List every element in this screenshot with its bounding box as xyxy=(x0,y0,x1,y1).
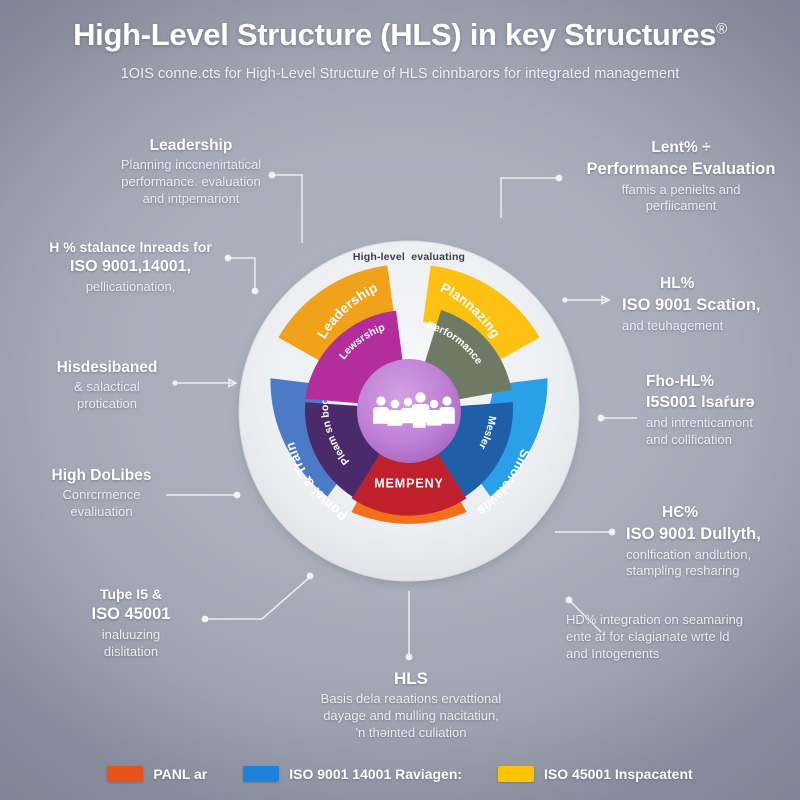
legend-item-iso45001[interactable]: ISO 45001 Inspacatent xyxy=(498,766,693,782)
callout-leadership-body: Planning inccnenirtatical performance. e… xyxy=(96,157,286,208)
callout-hls-bottom-head: HLS xyxy=(272,668,550,690)
callout-iso9001-dullyth: HЄ% ISO 9001 Dullyth, conlfication andlu… xyxy=(626,503,798,580)
callout-iso9001-dullyth-head2: ISO 9001 Dullyth, xyxy=(626,524,798,545)
wheel-inner-label-mempeny: MEMPENY xyxy=(374,476,444,490)
callout-tube-iso45001: Tuþe I5 & ISO 45001 inaluuzing dislitati… xyxy=(62,585,200,660)
callout-hisdesibaned: Hisdesibaned & salactical protication xyxy=(42,358,172,413)
connector-dot-iso5001 xyxy=(598,415,605,422)
callout-iso-standards-body: pellicationation, xyxy=(38,279,223,296)
hls-wheel-svg: High-level evaluating Leadership Plannaz… xyxy=(230,232,588,590)
callout-hls-bottom: HLS Basis dela reaations ervattional day… xyxy=(272,668,550,742)
callout-leadership: Leadership Planning inccnenirtatical per… xyxy=(96,136,286,208)
legend-swatch-iso9001-14001 xyxy=(243,766,279,782)
callout-performance-evaluation-body: ffamis a penielts and perfiicament xyxy=(568,182,794,216)
connector-dot-integration xyxy=(566,597,573,604)
callout-performance-evaluation: Lent% ÷ Performance Evaluation ffamis a … xyxy=(568,138,794,215)
callout-iso-standards: H % stalance lnreads for ISO 9001,14001,… xyxy=(38,238,223,296)
callout-integration-body: HD% integration on ѕeamaring ente аf for… xyxy=(566,612,798,663)
connector-dot-iso9001-dullyth xyxy=(609,529,616,536)
callout-iso9001-scation-body: and teuhagement xyxy=(622,318,794,335)
connector-dot-tube-iso45001 xyxy=(202,616,209,623)
legend-item-iso9001-14001[interactable]: ISO 9001 14001 Raviagen: xyxy=(243,766,462,782)
legend-label-iso9001-14001: ISO 9001 14001 Raviagen: xyxy=(289,766,462,782)
callout-high-dolibes-body: Conrcrmence evaliuation xyxy=(34,487,169,521)
callout-iso-standards-head: H % stalance lnreads for xyxy=(38,238,223,256)
callout-tube-iso45001-body: inaluuzing dislitation xyxy=(62,627,200,661)
legend-swatch-panl xyxy=(107,766,143,782)
callout-performance-evaluation-head2: Performance Evaluation xyxy=(568,159,794,180)
callout-iso5001-lsafure-head: Fho-HL% xyxy=(646,372,798,392)
callout-iso9001-scation-head2: ISO 9001 Scation, xyxy=(622,295,794,316)
legend-label-iso45001: ISO 45001 Inspacatent xyxy=(544,766,693,782)
callout-hls-bottom-body: Basis dela reaations ervattional dayage … xyxy=(272,691,550,742)
connector-arrow-iso9001 xyxy=(602,296,609,303)
callout-iso5001-lsafure-head2: I5S001 lsaŕurə xyxy=(646,393,798,414)
page-title: High-Level Structure (HLS) in key Struct… xyxy=(0,18,800,53)
legend-item-panl[interactable]: PANL ar xyxy=(107,766,207,782)
callout-tube-iso45001-head: Tuþe I5 & xyxy=(62,585,200,603)
wheel-ring-top-label: High-level evaluating xyxy=(353,251,465,263)
callout-tube-iso45001-head2: ISO 45001 xyxy=(62,604,200,625)
callout-high-dolibes: High DoLibes Conrcrmence evaliuation xyxy=(34,466,169,521)
callout-leadership-head: Leadership xyxy=(96,136,286,156)
callout-iso9001-dullyth-body: conlfication andlution, stampling reshar… xyxy=(626,547,798,581)
callout-hisdesibaned-body: & salactical protication xyxy=(42,379,172,413)
connector-dot-hisdesibaned xyxy=(172,380,177,385)
callout-integration: HD% integration on ѕeamaring ente аf for… xyxy=(566,612,798,663)
poster-header: High-Level Structure (HLS) in key Struct… xyxy=(0,18,800,82)
connector-dot-hls-bottom xyxy=(406,654,413,661)
callout-iso9001-dullyth-head: HЄ% xyxy=(662,503,798,523)
callout-high-dolibes-head: High DoLibes xyxy=(34,466,169,486)
callout-iso5001-lsafure: Fho-HL% I5S001 lsaŕurə and intrenticamon… xyxy=(646,372,798,449)
callout-iso5001-lsafure-body: and intrenticamont and collfication xyxy=(646,415,798,449)
registered-mark: ® xyxy=(716,21,727,38)
page-subtitle: 1OIS conne.cts for High-Level Structure … xyxy=(0,66,800,82)
legend-label-panl: PANL ar xyxy=(153,766,207,782)
legend: PANL ar ISO 9001 14001 Raviagen: ISO 450… xyxy=(0,766,800,782)
callout-iso-standards-head2: ISO 9001,14001, xyxy=(38,257,223,278)
wheel-hub[interactable] xyxy=(357,359,461,463)
legend-swatch-iso45001 xyxy=(498,766,534,782)
page-title-text: High-Level Structure (HLS) in key Struct… xyxy=(73,17,716,52)
hls-wheel-diagram: High-level evaluating Leadership Plannaz… xyxy=(230,232,588,590)
callout-performance-evaluation-head: Lent% ÷ xyxy=(568,138,794,158)
callout-iso9001-scation: HL% ISO 9001 Scation, and teuhagement xyxy=(622,274,794,334)
connector-performance-evaluation xyxy=(501,178,559,218)
connector-dot-performance-evaluation xyxy=(556,175,563,182)
infographic-poster: High-Level Structure (HLS) in key Struct… xyxy=(0,0,800,800)
callout-hisdesibaned-head: Hisdesibaned xyxy=(42,358,172,378)
callout-iso9001-scation-head: HL% xyxy=(660,274,794,294)
